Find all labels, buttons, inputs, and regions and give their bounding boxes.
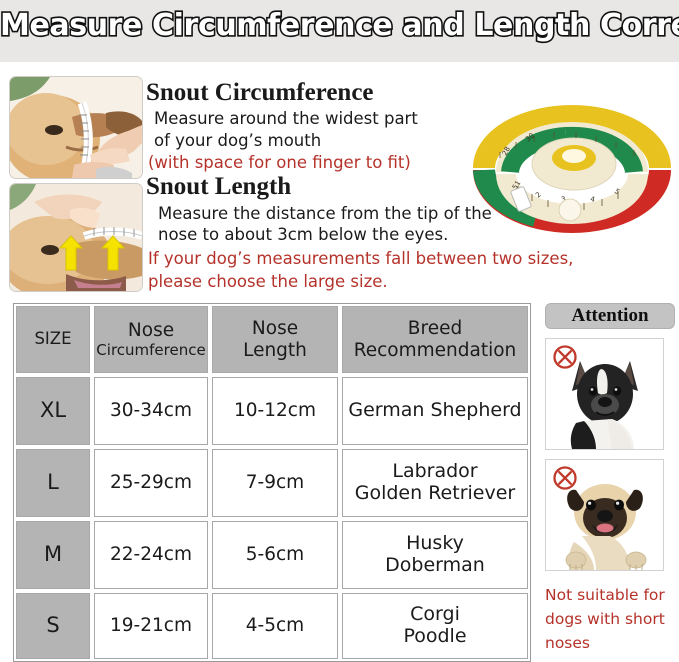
header-breed-bottom: Recommendation (354, 340, 517, 361)
header-breed-top: Breed (354, 318, 517, 339)
cell-circumference: 22-24cm (92, 519, 210, 591)
header-breed-recommendation: Breed Recommendation (340, 304, 530, 375)
cell-size: M (14, 519, 92, 591)
cell-circumference: 25-29cm (92, 447, 210, 519)
title-banner: Measure Circumference and Length Correct… (0, 0, 679, 62)
cell-breed-line-2: Golden Retriever (355, 483, 515, 505)
header-nose-circumference: Nose Circumference (92, 304, 210, 375)
cell-length: 4-5cm (210, 591, 340, 661)
snout-circumference-photo (9, 76, 143, 179)
size-chart-table: SIZE Nose Circumference Nose Length Bree… (13, 303, 531, 662)
snout-length-photo (9, 183, 143, 292)
table-row: L 25-29cm 7-9cm Labrador Golden Retrieve… (14, 447, 530, 519)
between-sizes-note-line-2: please choose the large size. (148, 272, 388, 291)
dog-measuring-circumference-illustration (10, 77, 142, 178)
prohibited-x-icon (552, 344, 578, 370)
cell-breed: Corgi Poodle (340, 591, 530, 661)
attention-caption: Not suitable for dogs with short noses (545, 583, 673, 655)
snout-length-heading: Snout Length (146, 173, 291, 201)
tape-measure-illustration: 51 2 3 4 5 28 30 (466, 92, 678, 250)
cell-length: 7-9cm (210, 447, 340, 519)
cell-breed: Labrador Golden Retriever (340, 447, 530, 519)
cell-circumference: 30-34cm (92, 375, 210, 447)
table-row: XL 30-34cm 10-12cm German Shepherd (14, 375, 530, 447)
between-sizes-note-line-1: If your dog’s measurements fall between … (148, 249, 573, 268)
header-nose-circumference-top: Nose (96, 320, 205, 341)
page-title: Measure Circumference and Length Correct… (0, 8, 679, 43)
circumference-instruction-line-2: of your dog’s mouth (154, 131, 321, 150)
cell-circumference: 19-21cm (92, 591, 210, 661)
circumference-instruction-line-1: Measure around the widest part (154, 109, 418, 128)
table-header-row: SIZE Nose Circumference Nose Length Bree… (14, 304, 530, 375)
cell-breed-line-1: Labrador (355, 461, 515, 483)
attention-title: Attention (545, 303, 675, 329)
cell-size: XL (14, 375, 92, 447)
cell-breed-line-1: Corgi (403, 604, 466, 626)
pug-photo (545, 459, 664, 571)
header-nose-length: Nose Length (210, 304, 340, 375)
cell-breed-line-2: Doberman (385, 555, 485, 577)
header-size: SIZE (14, 304, 92, 375)
cell-size: L (14, 447, 92, 519)
cell-size: S (14, 591, 92, 661)
cell-length: 10-12cm (210, 375, 340, 447)
french-bulldog-photo (545, 338, 664, 450)
circumference-finger-note: (with space for one finger to fit) (148, 153, 411, 172)
header-nose-circumference-bottom: Circumference (96, 342, 205, 359)
attention-panel: Attention (545, 303, 675, 655)
length-instruction-line-2: nose to about 3cm below the eyes. (158, 225, 448, 244)
cell-breed-line-2: Poodle (403, 626, 466, 648)
table-row: M 22-24cm 5-6cm Husky Doberman (14, 519, 530, 591)
header-nose-length-bottom: Length (243, 340, 307, 361)
cell-breed-line-1: German Shepherd (348, 400, 521, 422)
dog-measuring-length-illustration (10, 184, 142, 291)
header-nose-length-top: Nose (243, 318, 307, 339)
snout-circumference-heading: Snout Circumference (146, 79, 374, 107)
cell-breed: Husky Doberman (340, 519, 530, 591)
length-instruction-line-1: Measure the distance from the tip of the (158, 204, 492, 223)
table-row: S 19-21cm 4-5cm Corgi Poodle (14, 591, 530, 661)
cell-length: 5-6cm (210, 519, 340, 591)
cell-breed: German Shepherd (340, 375, 530, 447)
prohibited-x-icon (552, 465, 578, 491)
cell-breed-line-1: Husky (385, 533, 485, 555)
